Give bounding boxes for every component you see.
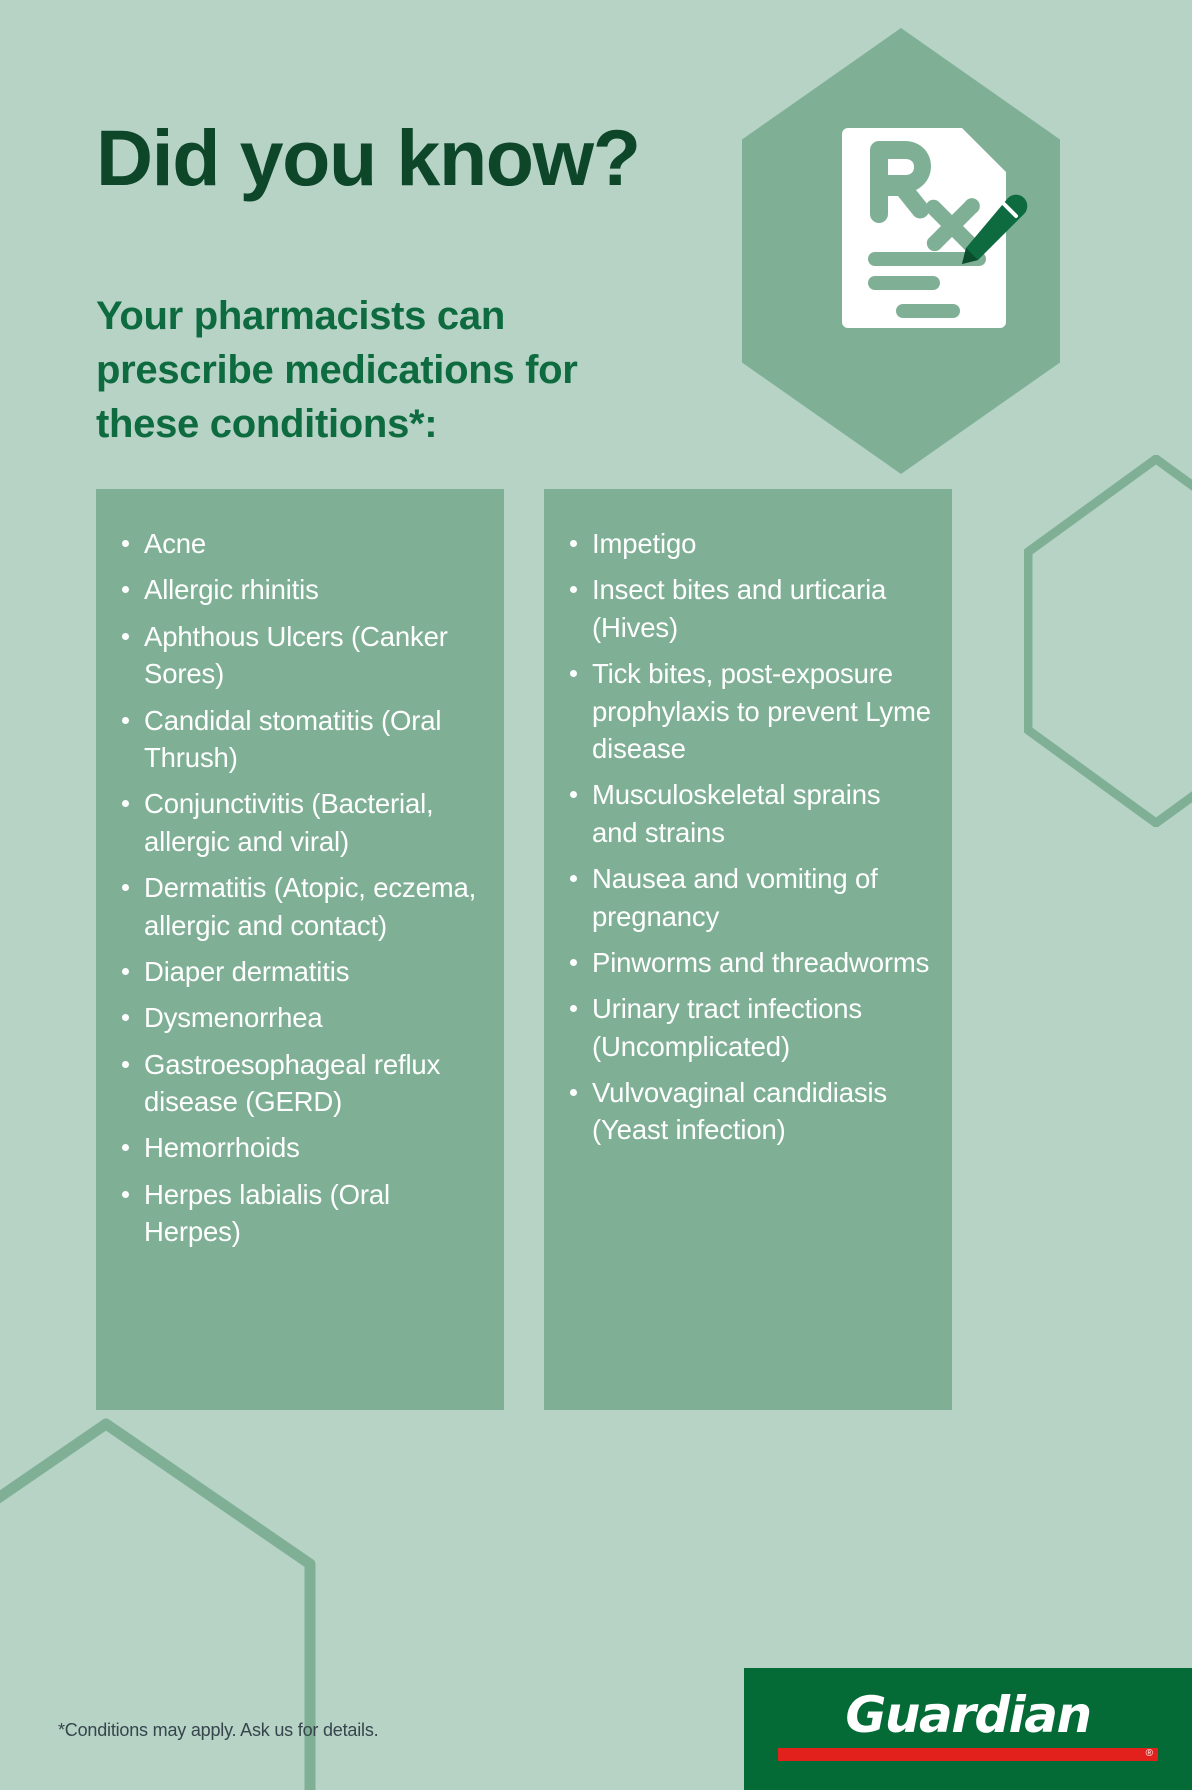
bullet-dot-icon xyxy=(122,1191,129,1198)
bullet-dot-icon xyxy=(570,670,577,677)
bullet-dot-icon xyxy=(570,586,577,593)
list-item: Gastroesophageal reflux disease (GERD) xyxy=(118,1046,484,1121)
list-item-label: Herpes labialis (Oral Herpes) xyxy=(144,1179,390,1247)
list-item-label: Vulvovaginal candidiasis (Yeast infectio… xyxy=(592,1077,887,1145)
list-item-label: Candidal stomatitis (Oral Thrush) xyxy=(144,705,441,773)
list-item-label: Hemorrhoids xyxy=(144,1132,300,1163)
list-item: Urinary tract infections (Uncomplicated) xyxy=(566,990,932,1065)
conditions-panel-left: Acne Allergic rhinitis Aphthous Ulcers (… xyxy=(96,489,504,1410)
guardian-logo: Guardian ® xyxy=(744,1668,1192,1790)
list-item-label: Conjunctivitis (Bacterial, allergic and … xyxy=(144,788,434,856)
bullet-dot-icon xyxy=(570,791,577,798)
list-item-label: Impetigo xyxy=(592,528,696,559)
list-item-label: Diaper dermatitis xyxy=(144,956,349,987)
bullet-dot-icon xyxy=(122,1061,129,1068)
bullet-dot-icon xyxy=(122,1014,129,1021)
conditions-list-right: Impetigo Insect bites and urticaria (Hiv… xyxy=(544,489,952,1149)
list-item: Candidal stomatitis (Oral Thrush) xyxy=(118,702,484,777)
bullet-dot-icon xyxy=(570,540,577,547)
list-item: Acne xyxy=(118,525,484,562)
list-item-label: Insect bites and urticaria (Hives) xyxy=(592,574,886,642)
bullet-dot-icon xyxy=(570,959,577,966)
list-item: Musculoskeletal sprains and strains xyxy=(566,776,932,851)
bullet-dot-icon xyxy=(122,540,129,547)
list-item: Herpes labialis (Oral Herpes) xyxy=(118,1176,484,1251)
list-item-label: Pinworms and threadworms xyxy=(592,947,929,978)
list-item-label: Nausea and vomiting of pregnancy xyxy=(592,863,878,931)
list-item: Vulvovaginal candidiasis (Yeast infectio… xyxy=(566,1074,932,1149)
bullet-dot-icon xyxy=(122,1144,129,1151)
list-item: Diaper dermatitis xyxy=(118,953,484,990)
list-item: Pinworms and threadworms xyxy=(566,944,932,981)
list-item-label: Tick bites, post-exposure prophylaxis to… xyxy=(592,658,931,764)
list-item: Insect bites and urticaria (Hives) xyxy=(566,571,932,646)
logo-red-bar: ® xyxy=(778,1748,1158,1761)
guardian-wordmark: Guardian xyxy=(778,1690,1158,1740)
list-item: Dysmenorrhea xyxy=(118,999,484,1036)
bullet-dot-icon xyxy=(122,586,129,593)
poster-canvas: Did you know? Your pharmacists can presc… xyxy=(0,0,1192,1790)
bullet-dot-icon xyxy=(122,633,129,640)
list-item-label: Urinary tract infections (Uncomplicated) xyxy=(592,993,862,1061)
list-item: Aphthous Ulcers (Canker Sores) xyxy=(118,618,484,693)
bullet-dot-icon xyxy=(570,1089,577,1096)
page-subtitle: Your pharmacists can prescribe medicatio… xyxy=(96,289,616,451)
bullet-dot-icon xyxy=(122,884,129,891)
bullet-dot-icon xyxy=(570,875,577,882)
page-title: Did you know? xyxy=(96,118,736,197)
list-item-label: Dysmenorrhea xyxy=(144,1002,323,1033)
list-item-label: Acne xyxy=(144,528,206,559)
list-item: Tick bites, post-exposure prophylaxis to… xyxy=(566,655,932,767)
hexagon-outline-right-icon xyxy=(1024,455,1192,827)
list-item-label: Gastroesophageal reflux disease (GERD) xyxy=(144,1049,440,1117)
bullet-dot-icon xyxy=(122,800,129,807)
footnote-disclaimer: *Conditions may apply. Ask us for detail… xyxy=(58,1720,378,1741)
list-item-label: Aphthous Ulcers (Canker Sores) xyxy=(144,621,448,689)
bullet-dot-icon xyxy=(570,1005,577,1012)
bullet-dot-icon xyxy=(122,717,129,724)
list-item-label: Musculoskeletal sprains and strains xyxy=(592,779,880,847)
list-item-label: Allergic rhinitis xyxy=(144,574,319,605)
conditions-list-left: Acne Allergic rhinitis Aphthous Ulcers (… xyxy=(96,489,504,1251)
registered-trademark-icon: ® xyxy=(1146,1747,1153,1760)
list-item: Allergic rhinitis xyxy=(118,571,484,608)
list-item: Conjunctivitis (Bacterial, allergic and … xyxy=(118,785,484,860)
list-item: Dermatitis (Atopic, eczema, allergic and… xyxy=(118,869,484,944)
list-item: Hemorrhoids xyxy=(118,1129,484,1166)
conditions-panel-right: Impetigo Insect bites and urticaria (Hiv… xyxy=(544,489,952,1410)
list-item: Nausea and vomiting of pregnancy xyxy=(566,860,932,935)
list-item-label: Dermatitis (Atopic, eczema, allergic and… xyxy=(144,872,476,940)
bullet-dot-icon xyxy=(122,968,129,975)
rx-prescription-pen-icon xyxy=(838,118,1028,332)
list-item: Impetigo xyxy=(566,525,932,562)
